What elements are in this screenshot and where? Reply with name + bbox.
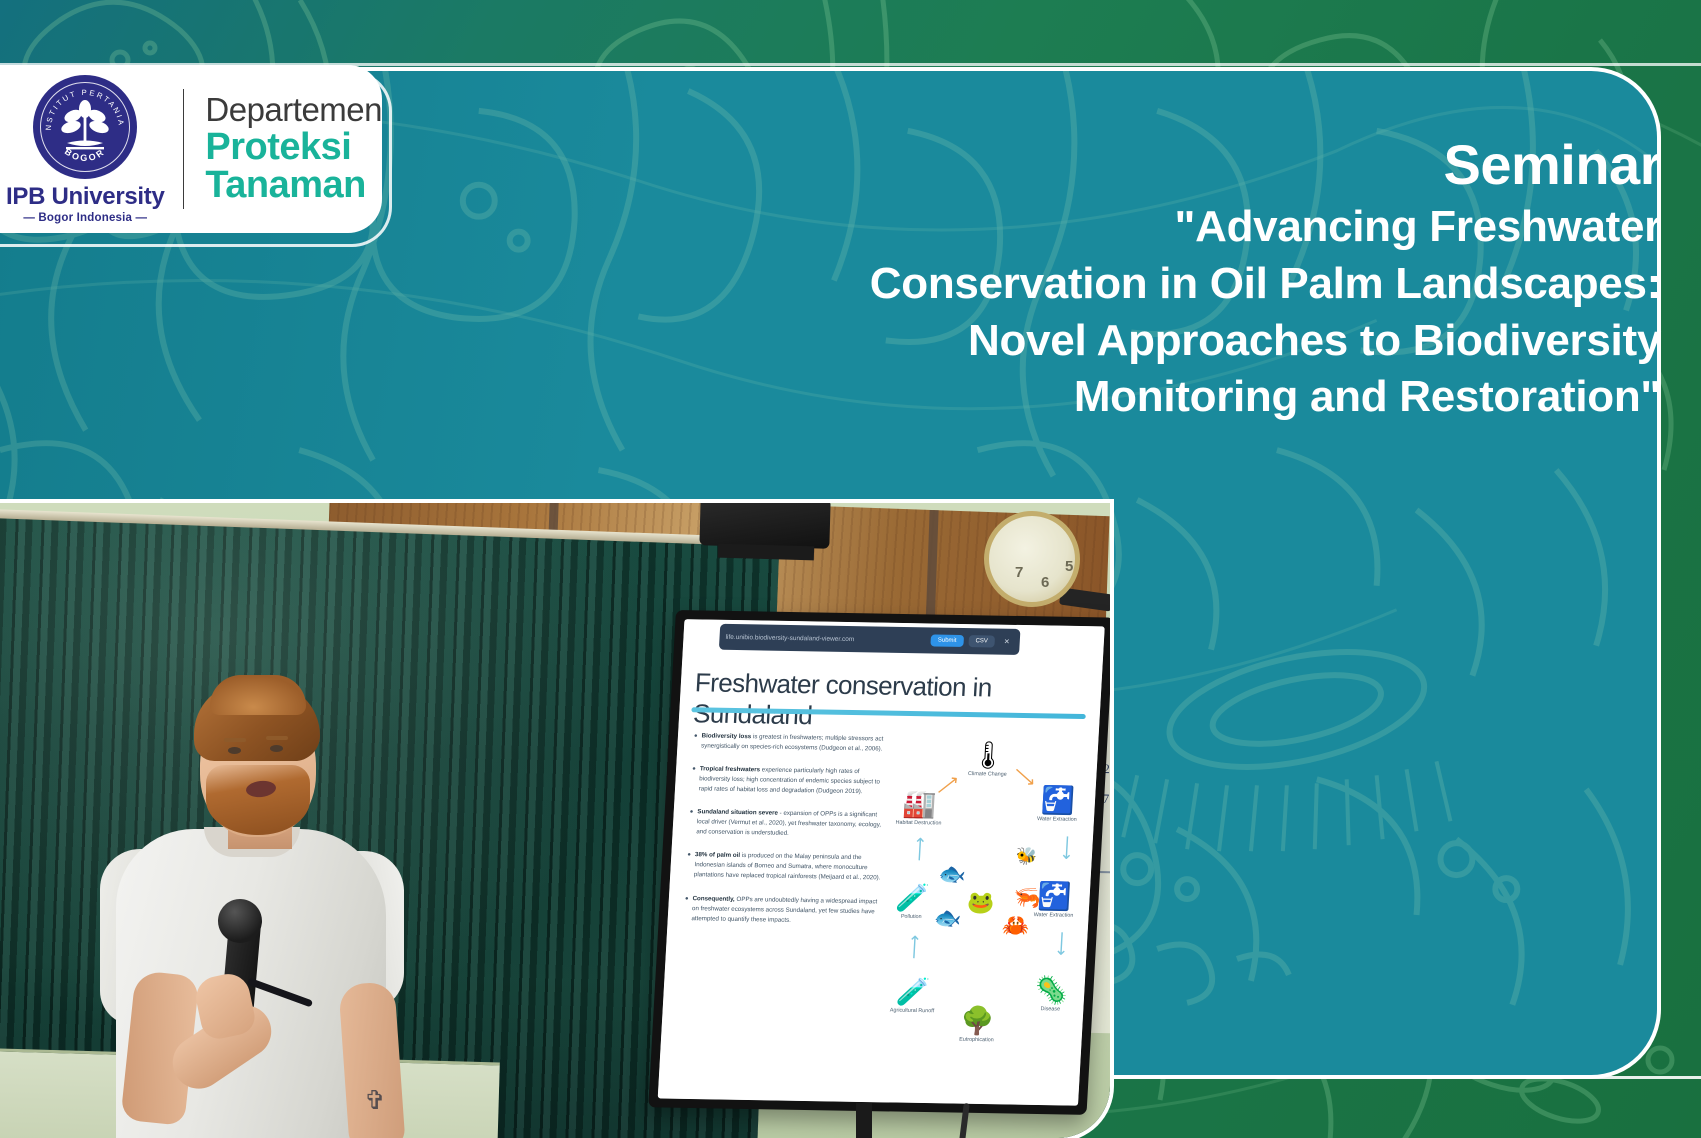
seminar-title-line-1: "Advancing Freshwater <box>601 199 1661 256</box>
arrow-icon: ⟶ <box>904 935 925 960</box>
presentation-monitor: life.unibio.biodiversity-sundaland-viewe… <box>648 610 1110 1115</box>
list-item: ● Sundaland situation severe - expansion… <box>688 807 886 841</box>
department-logo-card: INSTITUT PERTANIAN BOGOR <box>0 65 382 233</box>
clock-number-6: 6 <box>1041 574 1049 591</box>
submit-button[interactable]: Submit <box>930 634 963 647</box>
list-item: ● Biodiversity loss is greatest in fresh… <box>693 731 890 754</box>
arm-tattoo: ✞ <box>360 1083 390 1117</box>
bullet-dot-icon: ● <box>691 764 696 794</box>
cycle-label: Climate Change <box>960 771 1014 778</box>
browser-url-field[interactable]: life.unibio.biodiversity-sundaland-viewe… <box>725 633 926 643</box>
arrow-icon: ⟶ <box>910 837 931 862</box>
seminar-title-line-3: Novel Approaches to Biodiversity <box>601 313 1661 370</box>
list-item: ● 38% of palm oil is produced on the Mal… <box>686 850 884 884</box>
seminar-title-block: Seminar "Advancing Freshwater Conservati… <box>601 136 1661 426</box>
bullet-lead: 38% of palm oil <box>695 852 740 860</box>
sprayer-icon: 🧪 <box>885 976 941 1007</box>
ceiling-speaker-base <box>718 544 814 561</box>
cycle-item-agricultural-runoff: 🧪 Agricultural Runoff <box>885 976 941 1014</box>
slide-bullet-list: ● Biodiversity loss is greatest in fresh… <box>683 731 891 940</box>
department-line-3: Tanaman <box>205 166 382 205</box>
species-group: 🐟 🐝 🐸 🦐 🐟 🦀 <box>929 843 1063 949</box>
thermometer-sun-icon: 🌡 <box>961 740 1017 771</box>
cycle-item-water-extraction-1: 🚰 Water Extraction <box>1030 785 1086 823</box>
virus-fishhook-icon: 🦠 <box>1024 975 1080 1006</box>
dam-tap-icon: 🚰 <box>1030 785 1086 816</box>
presentation-slide: life.unibio.biodiversity-sundaland-viewe… <box>658 619 1105 1106</box>
svg-text:INSTITUT PERTANIAN: INSTITUT PERTANIAN <box>33 75 126 131</box>
university-tagline: — Bogor Indonesia — <box>23 212 147 224</box>
wall-clock: 7 6 5 <box>984 511 1080 607</box>
browser-toolbar[interactable]: life.unibio.biodiversity-sundaland-viewe… <box>719 624 1021 655</box>
seminar-title-line-2: Conservation in Oil Palm Landscapes: <box>601 256 1661 313</box>
seminar-kicker: Seminar <box>601 136 1661 193</box>
bullet-dot-icon: ● <box>686 850 691 880</box>
bullet-lead: Sundaland situation severe <box>697 808 778 816</box>
algae-bloom-icon: 🌳 <box>950 1006 1006 1037</box>
cycle-item-eutrophication: 🌳 Eutrophication <box>949 1006 1005 1044</box>
stressor-cycle-diagram: 🌡 Climate Change 🏭 Habitat Destruction 🚰… <box>875 731 1097 1084</box>
shrimp-icon: 🦐 <box>1013 885 1042 911</box>
seminar-photo: 7 6 5 1 3 P 0 0 0 1 b 5 9 0 3 5 1 5 2 1 … <box>0 503 1110 1138</box>
crab-icon: 🦀 <box>1001 913 1030 939</box>
bullet-lead: Tropical freshwaters <box>700 765 761 773</box>
list-item: ● Consequently, OPPs are undoubtedly hav… <box>684 894 882 928</box>
dragonfly-icon: 🐝 <box>1015 847 1037 867</box>
bullet-lead: Consequently, <box>692 895 735 903</box>
frog-icon: 🐸 <box>966 890 995 916</box>
monitor-stand-pole <box>856 1103 872 1138</box>
list-item: ● Tropical freshwaters experience partic… <box>691 764 889 798</box>
clock-number-5: 5 <box>1065 558 1073 575</box>
department-line-2: Proteksi <box>205 128 382 166</box>
fish-icon: 🐟 <box>933 905 962 931</box>
cycle-label: Eutrophication <box>949 1037 1003 1044</box>
cycle-label: Disease <box>1023 1006 1077 1013</box>
bullet-dot-icon: ● <box>693 731 698 751</box>
ceiling-speaker <box>699 503 830 549</box>
logo-divider <box>183 89 184 209</box>
seminar-title-line-4: Monitoring and Restoration" <box>601 369 1661 426</box>
cycle-label: Agricultural Runoff <box>885 1007 939 1014</box>
university-name: IPB University <box>6 183 165 211</box>
bullet-dot-icon: ● <box>684 894 689 924</box>
ipb-crest-seal-icon: INSTITUT PERTANIAN BOGOR <box>33 75 137 179</box>
department-line-1: Departemen <box>205 93 382 127</box>
close-icon[interactable]: ✕ <box>1000 638 1014 646</box>
seminar-poster: INSTITUT PERTANIAN BOGOR <box>0 0 1701 1138</box>
speaker-figure: ✞ <box>106 653 406 1138</box>
cycle-label: Water Extraction <box>1030 816 1084 823</box>
bullet-dot-icon: ● <box>688 807 693 837</box>
cycle-label: Habitat Destruction <box>891 820 945 827</box>
csv-button[interactable]: CSV <box>968 635 995 647</box>
clock-number-7: 7 <box>1015 564 1023 581</box>
fish-icon: 🐟 <box>938 861 967 887</box>
bullet-lead: Biodiversity loss <box>701 732 751 740</box>
cycle-item-disease: 🦠 Disease <box>1023 975 1079 1013</box>
cycle-item-climate-change: 🌡 Climate Change <box>960 740 1016 778</box>
slide-title: Freshwater conservation in Sundaland <box>692 667 1104 736</box>
